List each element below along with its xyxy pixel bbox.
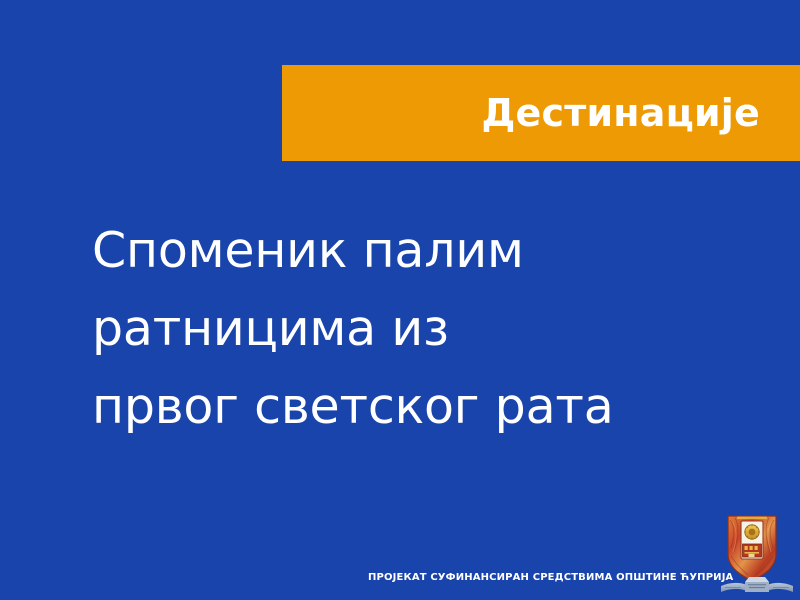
title-line-2: ратницима из xyxy=(92,290,692,368)
presentation-slide: Дестинације Споменик палим ратницима из … xyxy=(0,0,800,600)
title-line-1: Споменик палим xyxy=(92,212,692,290)
title-line-3: првог светског рата xyxy=(92,368,692,446)
section-banner: Дестинације xyxy=(282,65,800,161)
coat-of-arms-icon xyxy=(718,512,796,596)
page-title: Споменик палим ратницима из првог светск… xyxy=(92,212,692,446)
section-banner-label: Дестинације xyxy=(482,94,760,132)
footer-credit-text: ПРОЈЕКАТ СУФИНАНСИРАН СРЕДСТВИМА ОПШТИНЕ… xyxy=(368,571,708,585)
